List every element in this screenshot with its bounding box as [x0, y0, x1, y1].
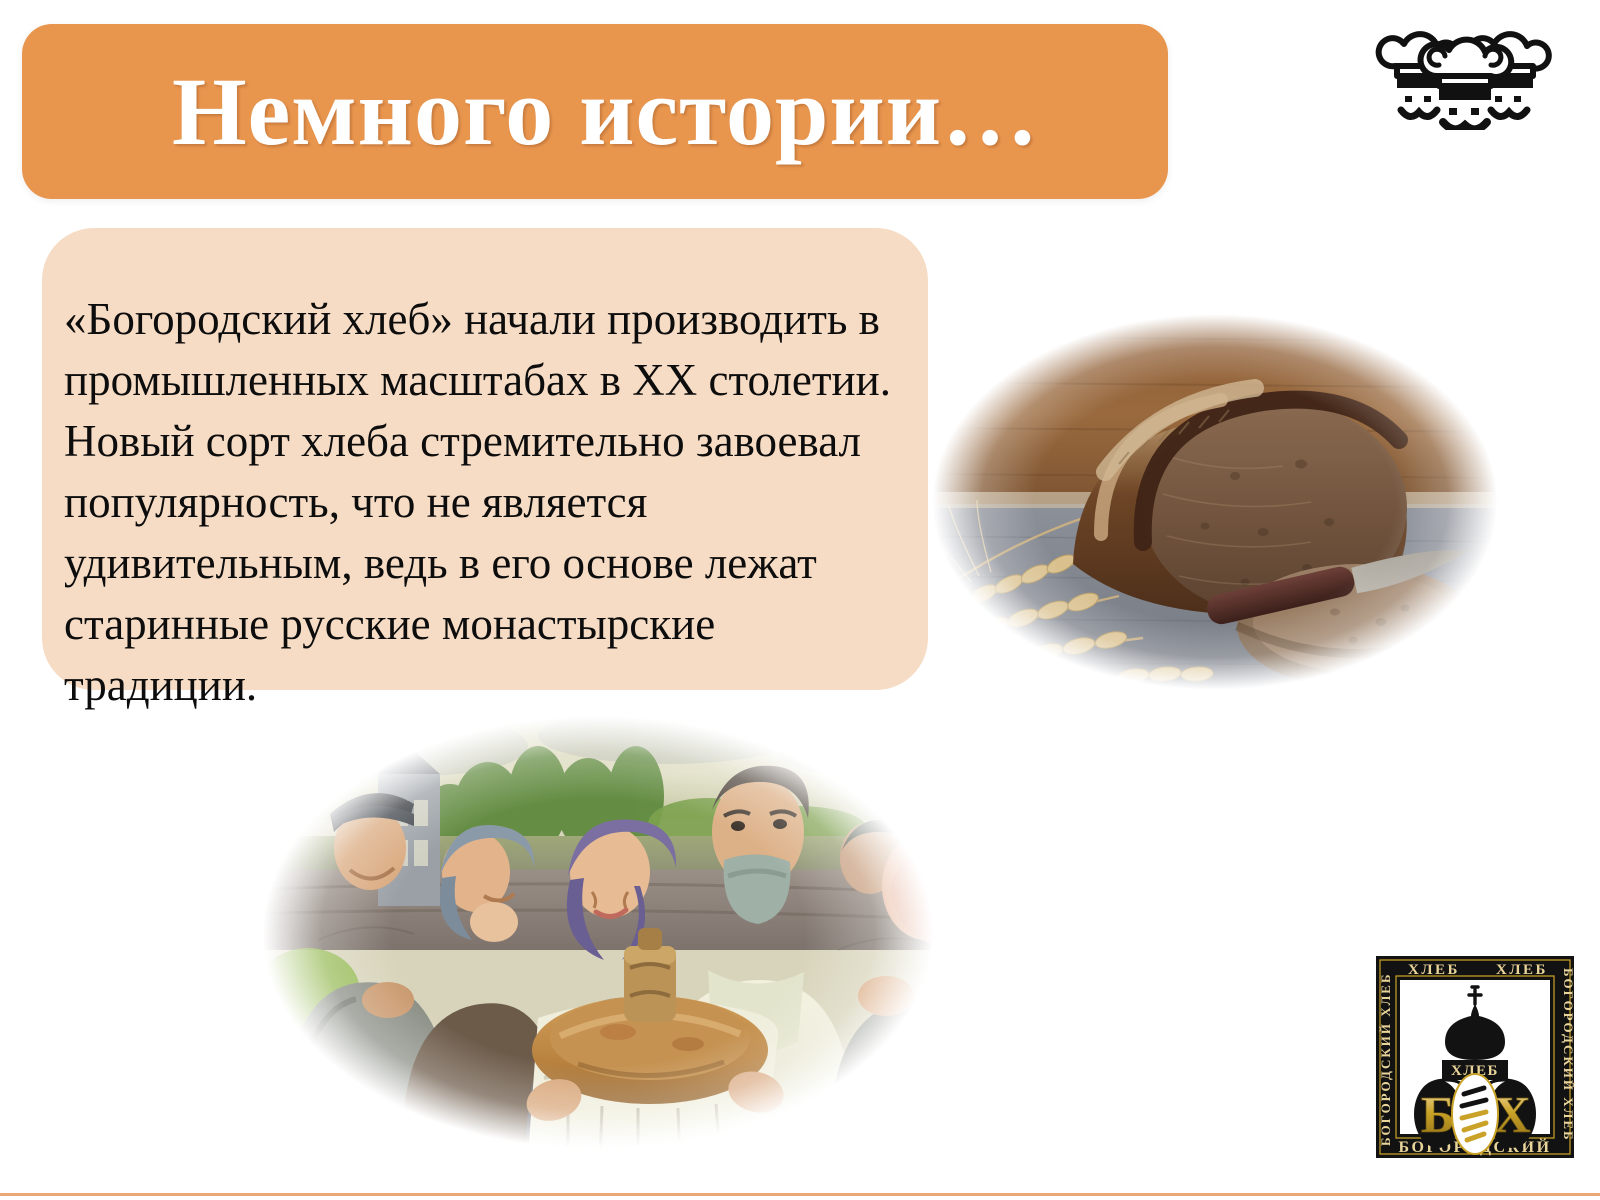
logo-border-top-left: ХЛЕБ — [1408, 962, 1460, 978]
title-banner: Немного истории… — [22, 24, 1168, 199]
logo-monogram-b: Б — [1421, 1087, 1455, 1144]
peasants-painting — [238, 700, 958, 1165]
slide-canvas: Немного истории… — [0, 0, 1600, 1200]
chef-hats-icon — [1375, 22, 1553, 130]
logo-border-right: БОГОРОДСКИЙ ХЛЕБ — [1561, 968, 1576, 1142]
page-title: Немного истории… — [172, 64, 1039, 160]
bread-photo — [905, 296, 1525, 708]
history-body-text: «Богородский хлеб» начали производить в … — [64, 289, 912, 716]
bogorodsky-hleb-logo: ХЛЕБ ХЛЕБ БОГОРОДСКИЙ БОГОРОДСКИЙ ХЛЕБ Б… — [1368, 948, 1582, 1166]
logo-border-top-right: ХЛЕБ — [1496, 962, 1548, 978]
bottom-rule — [0, 1193, 1600, 1196]
logo-border-left: БОГОРОДСКИЙ ХЛЕБ — [1378, 972, 1393, 1146]
history-text-card: «Богородский хлеб» начали производить в … — [42, 228, 928, 690]
